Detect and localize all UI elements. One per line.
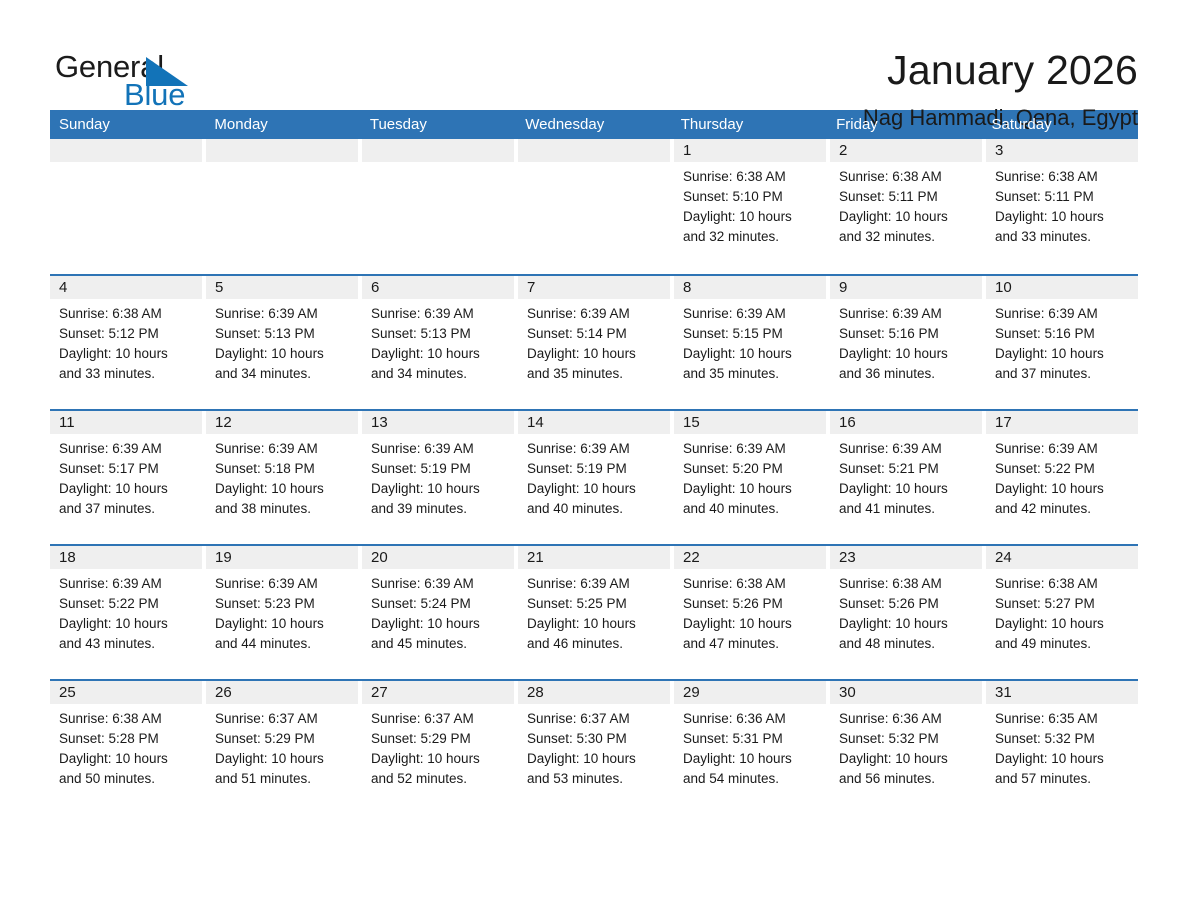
daylight-text-line1: Daylight: 10 hours <box>215 614 349 634</box>
day-sun-info: Sunrise: 6:39 AMSunset: 5:22 PMDaylight:… <box>50 569 202 654</box>
daylight-text-line1: Daylight: 10 hours <box>995 614 1129 634</box>
sunset-text: Sunset: 5:16 PM <box>839 324 973 344</box>
day-number: 23 <box>830 546 982 569</box>
sunset-text: Sunset: 5:24 PM <box>371 594 505 614</box>
day-sun-info: Sunrise: 6:39 AMSunset: 5:13 PMDaylight:… <box>206 299 358 384</box>
general-blue-logo: General Blue <box>50 46 200 120</box>
day-cell-empty <box>518 139 670 274</box>
sunset-text: Sunset: 5:22 PM <box>59 594 193 614</box>
day-sun-info: Sunrise: 6:39 AMSunset: 5:17 PMDaylight:… <box>50 434 202 519</box>
sunset-text: Sunset: 5:13 PM <box>371 324 505 344</box>
day-cell[interactable]: 29Sunrise: 6:36 AMSunset: 5:31 PMDayligh… <box>674 681 826 814</box>
sunrise-text: Sunrise: 6:39 AM <box>995 439 1129 459</box>
day-sun-info: Sunrise: 6:38 AMSunset: 5:28 PMDaylight:… <box>50 704 202 789</box>
daylight-text-line2: and 38 minutes. <box>215 499 349 519</box>
sunset-text: Sunset: 5:25 PM <box>527 594 661 614</box>
sunrise-text: Sunrise: 6:38 AM <box>59 709 193 729</box>
day-number: 28 <box>518 681 670 704</box>
sunrise-text: Sunrise: 6:39 AM <box>839 439 973 459</box>
day-number: 17 <box>986 411 1138 434</box>
day-cell[interactable]: 7Sunrise: 6:39 AMSunset: 5:14 PMDaylight… <box>518 276 670 409</box>
sunrise-text: Sunrise: 6:39 AM <box>839 304 973 324</box>
daylight-text-line2: and 34 minutes. <box>371 364 505 384</box>
day-cell[interactable]: 27Sunrise: 6:37 AMSunset: 5:29 PMDayligh… <box>362 681 514 814</box>
sunset-text: Sunset: 5:23 PM <box>215 594 349 614</box>
sunset-text: Sunset: 5:26 PM <box>839 594 973 614</box>
day-sun-info: Sunrise: 6:36 AMSunset: 5:31 PMDaylight:… <box>674 704 826 789</box>
daylight-text-line1: Daylight: 10 hours <box>683 749 817 769</box>
daylight-text-line1: Daylight: 10 hours <box>215 479 349 499</box>
day-cell[interactable]: 31Sunrise: 6:35 AMSunset: 5:32 PMDayligh… <box>986 681 1138 814</box>
day-number: 16 <box>830 411 982 434</box>
daylight-text-line2: and 53 minutes. <box>527 769 661 789</box>
sunset-text: Sunset: 5:27 PM <box>995 594 1129 614</box>
daylight-text-line1: Daylight: 10 hours <box>995 344 1129 364</box>
sunset-text: Sunset: 5:17 PM <box>59 459 193 479</box>
day-sun-info: Sunrise: 6:35 AMSunset: 5:32 PMDaylight:… <box>986 704 1138 789</box>
daylight-text-line1: Daylight: 10 hours <box>59 749 193 769</box>
day-number: 22 <box>674 546 826 569</box>
daylight-text-line1: Daylight: 10 hours <box>995 207 1129 227</box>
day-cell[interactable]: 2Sunrise: 6:38 AMSunset: 5:11 PMDaylight… <box>830 139 982 274</box>
day-cell[interactable]: 21Sunrise: 6:39 AMSunset: 5:25 PMDayligh… <box>518 546 670 679</box>
day-sun-info: Sunrise: 6:39 AMSunset: 5:15 PMDaylight:… <box>674 299 826 384</box>
day-sun-info: Sunrise: 6:37 AMSunset: 5:29 PMDaylight:… <box>362 704 514 789</box>
day-sun-info: Sunrise: 6:39 AMSunset: 5:16 PMDaylight:… <box>830 299 982 384</box>
sunset-text: Sunset: 5:26 PM <box>683 594 817 614</box>
weekday-header-saturday: Saturday <box>983 110 1138 139</box>
daylight-text-line2: and 47 minutes. <box>683 634 817 654</box>
day-sun-info: Sunrise: 6:39 AMSunset: 5:14 PMDaylight:… <box>518 299 670 384</box>
daylight-text-line2: and 56 minutes. <box>839 769 973 789</box>
day-sun-info: Sunrise: 6:37 AMSunset: 5:29 PMDaylight:… <box>206 704 358 789</box>
day-sun-info: Sunrise: 6:39 AMSunset: 5:21 PMDaylight:… <box>830 434 982 519</box>
day-cell[interactable]: 23Sunrise: 6:38 AMSunset: 5:26 PMDayligh… <box>830 546 982 679</box>
logo-text-blue: Blue <box>124 78 185 112</box>
daylight-text-line2: and 35 minutes. <box>527 364 661 384</box>
day-cell-empty <box>50 139 202 274</box>
day-number <box>50 139 202 162</box>
day-cell[interactable]: 9Sunrise: 6:39 AMSunset: 5:16 PMDaylight… <box>830 276 982 409</box>
daylight-text-line2: and 52 minutes. <box>371 769 505 789</box>
sunset-text: Sunset: 5:13 PM <box>215 324 349 344</box>
daylight-text-line2: and 32 minutes. <box>683 227 817 247</box>
daylight-text-line1: Daylight: 10 hours <box>527 344 661 364</box>
day-sun-info: Sunrise: 6:38 AMSunset: 5:26 PMDaylight:… <box>674 569 826 654</box>
daylight-text-line1: Daylight: 10 hours <box>59 479 193 499</box>
daylight-text-line1: Daylight: 10 hours <box>839 479 973 499</box>
daylight-text-line2: and 46 minutes. <box>527 634 661 654</box>
day-sun-info: Sunrise: 6:38 AMSunset: 5:12 PMDaylight:… <box>50 299 202 384</box>
day-sun-info: Sunrise: 6:39 AMSunset: 5:22 PMDaylight:… <box>986 434 1138 519</box>
day-number <box>206 139 358 162</box>
daylight-text-line2: and 33 minutes. <box>995 227 1129 247</box>
day-number: 3 <box>986 139 1138 162</box>
daylight-text-line2: and 43 minutes. <box>59 634 193 654</box>
sunrise-text: Sunrise: 6:38 AM <box>839 167 973 187</box>
day-cell[interactable]: 10Sunrise: 6:39 AMSunset: 5:16 PMDayligh… <box>986 276 1138 409</box>
day-number: 25 <box>50 681 202 704</box>
day-number: 21 <box>518 546 670 569</box>
day-sun-info: Sunrise: 6:39 AMSunset: 5:20 PMDaylight:… <box>674 434 826 519</box>
day-number: 12 <box>206 411 358 434</box>
month-calendar: Sunday Monday Tuesday Wednesday Thursday… <box>50 110 1138 814</box>
day-sun-info: Sunrise: 6:39 AMSunset: 5:25 PMDaylight:… <box>518 569 670 654</box>
daylight-text-line1: Daylight: 10 hours <box>527 479 661 499</box>
day-cell-empty <box>206 139 358 274</box>
day-sun-info: Sunrise: 6:39 AMSunset: 5:19 PMDaylight:… <box>518 434 670 519</box>
calendar-page: General Blue January 2026 Nag Hammadi, Q… <box>0 0 1188 918</box>
day-cell[interactable]: 22Sunrise: 6:38 AMSunset: 5:26 PMDayligh… <box>674 546 826 679</box>
day-cell[interactable]: 1Sunrise: 6:38 AMSunset: 5:10 PMDaylight… <box>674 139 826 274</box>
daylight-text-line2: and 37 minutes. <box>995 364 1129 384</box>
day-number: 6 <box>362 276 514 299</box>
sunrise-text: Sunrise: 6:39 AM <box>683 304 817 324</box>
day-cell[interactable]: 28Sunrise: 6:37 AMSunset: 5:30 PMDayligh… <box>518 681 670 814</box>
daylight-text-line2: and 37 minutes. <box>59 499 193 519</box>
day-sun-info: Sunrise: 6:39 AMSunset: 5:16 PMDaylight:… <box>986 299 1138 384</box>
day-number: 31 <box>986 681 1138 704</box>
sunrise-text: Sunrise: 6:37 AM <box>215 709 349 729</box>
day-cell[interactable]: 15Sunrise: 6:39 AMSunset: 5:20 PMDayligh… <box>674 411 826 544</box>
daylight-text-line2: and 54 minutes. <box>683 769 817 789</box>
day-number: 29 <box>674 681 826 704</box>
daylight-text-line1: Daylight: 10 hours <box>683 479 817 499</box>
daylight-text-line1: Daylight: 10 hours <box>839 344 973 364</box>
sunrise-text: Sunrise: 6:39 AM <box>215 439 349 459</box>
day-number: 14 <box>518 411 670 434</box>
day-sun-info: Sunrise: 6:38 AMSunset: 5:11 PMDaylight:… <box>830 162 982 247</box>
week-row: 11Sunrise: 6:39 AMSunset: 5:17 PMDayligh… <box>50 409 1138 544</box>
sunrise-text: Sunrise: 6:37 AM <box>527 709 661 729</box>
sunrise-text: Sunrise: 6:39 AM <box>683 439 817 459</box>
sunrise-text: Sunrise: 6:39 AM <box>371 304 505 324</box>
day-number: 2 <box>830 139 982 162</box>
daylight-text-line2: and 50 minutes. <box>59 769 193 789</box>
calendar-body: 1Sunrise: 6:38 AMSunset: 5:10 PMDaylight… <box>50 139 1138 814</box>
day-sun-info: Sunrise: 6:39 AMSunset: 5:23 PMDaylight:… <box>206 569 358 654</box>
day-cell[interactable]: 30Sunrise: 6:36 AMSunset: 5:32 PMDayligh… <box>830 681 982 814</box>
daylight-text-line2: and 40 minutes. <box>527 499 661 519</box>
sunset-text: Sunset: 5:18 PM <box>215 459 349 479</box>
daylight-text-line1: Daylight: 10 hours <box>371 749 505 769</box>
day-sun-info: Sunrise: 6:39 AMSunset: 5:19 PMDaylight:… <box>362 434 514 519</box>
day-cell[interactable]: 6Sunrise: 6:39 AMSunset: 5:13 PMDaylight… <box>362 276 514 409</box>
week-row: 18Sunrise: 6:39 AMSunset: 5:22 PMDayligh… <box>50 544 1138 679</box>
daylight-text-line1: Daylight: 10 hours <box>371 344 505 364</box>
sunset-text: Sunset: 5:19 PM <box>527 459 661 479</box>
sunrise-text: Sunrise: 6:39 AM <box>527 574 661 594</box>
sunrise-text: Sunrise: 6:38 AM <box>683 574 817 594</box>
daylight-text-line2: and 35 minutes. <box>683 364 817 384</box>
daylight-text-line1: Daylight: 10 hours <box>527 614 661 634</box>
daylight-text-line2: and 32 minutes. <box>839 227 973 247</box>
daylight-text-line2: and 39 minutes. <box>371 499 505 519</box>
weekday-header-thursday: Thursday <box>672 110 827 139</box>
day-number: 19 <box>206 546 358 569</box>
day-number: 30 <box>830 681 982 704</box>
day-cell[interactable]: 12Sunrise: 6:39 AMSunset: 5:18 PMDayligh… <box>206 411 358 544</box>
sunset-text: Sunset: 5:31 PM <box>683 729 817 749</box>
day-cell[interactable]: 18Sunrise: 6:39 AMSunset: 5:22 PMDayligh… <box>50 546 202 679</box>
daylight-text-line1: Daylight: 10 hours <box>683 344 817 364</box>
day-cell-empty <box>362 139 514 274</box>
week-row: 25Sunrise: 6:38 AMSunset: 5:28 PMDayligh… <box>50 679 1138 814</box>
daylight-text-line1: Daylight: 10 hours <box>371 479 505 499</box>
daylight-text-line2: and 51 minutes. <box>215 769 349 789</box>
sunrise-text: Sunrise: 6:38 AM <box>839 574 973 594</box>
sunset-text: Sunset: 5:32 PM <box>995 729 1129 749</box>
day-number: 5 <box>206 276 358 299</box>
sunrise-text: Sunrise: 6:38 AM <box>995 574 1129 594</box>
day-number: 13 <box>362 411 514 434</box>
daylight-text-line1: Daylight: 10 hours <box>215 749 349 769</box>
sunset-text: Sunset: 5:29 PM <box>371 729 505 749</box>
day-number: 15 <box>674 411 826 434</box>
day-sun-info: Sunrise: 6:39 AMSunset: 5:24 PMDaylight:… <box>362 569 514 654</box>
daylight-text-line2: and 33 minutes. <box>59 364 193 384</box>
weekday-header-wednesday: Wednesday <box>516 110 671 139</box>
sunrise-text: Sunrise: 6:39 AM <box>59 439 193 459</box>
day-cell[interactable]: 25Sunrise: 6:38 AMSunset: 5:28 PMDayligh… <box>50 681 202 814</box>
sunrise-text: Sunrise: 6:39 AM <box>215 574 349 594</box>
sunrise-text: Sunrise: 6:38 AM <box>59 304 193 324</box>
sunrise-text: Sunrise: 6:36 AM <box>683 709 817 729</box>
sunrise-text: Sunrise: 6:38 AM <box>995 167 1129 187</box>
weekday-header-row: Sunday Monday Tuesday Wednesday Thursday… <box>50 110 1138 139</box>
daylight-text-line1: Daylight: 10 hours <box>683 207 817 227</box>
daylight-text-line2: and 45 minutes. <box>371 634 505 654</box>
day-number: 1 <box>674 139 826 162</box>
day-cell[interactable]: 26Sunrise: 6:37 AMSunset: 5:29 PMDayligh… <box>206 681 358 814</box>
day-sun-info: Sunrise: 6:36 AMSunset: 5:32 PMDaylight:… <box>830 704 982 789</box>
day-sun-info: Sunrise: 6:38 AMSunset: 5:27 PMDaylight:… <box>986 569 1138 654</box>
day-number: 20 <box>362 546 514 569</box>
daylight-text-line1: Daylight: 10 hours <box>839 207 973 227</box>
daylight-text-line1: Daylight: 10 hours <box>59 344 193 364</box>
sunset-text: Sunset: 5:21 PM <box>839 459 973 479</box>
day-number: 27 <box>362 681 514 704</box>
daylight-text-line1: Daylight: 10 hours <box>215 344 349 364</box>
sunset-text: Sunset: 5:11 PM <box>995 187 1129 207</box>
day-cell[interactable]: 17Sunrise: 6:39 AMSunset: 5:22 PMDayligh… <box>986 411 1138 544</box>
day-number: 7 <box>518 276 670 299</box>
daylight-text-line1: Daylight: 10 hours <box>371 614 505 634</box>
daylight-text-line2: and 57 minutes. <box>995 769 1129 789</box>
day-cell[interactable]: 4Sunrise: 6:38 AMSunset: 5:12 PMDaylight… <box>50 276 202 409</box>
sunset-text: Sunset: 5:30 PM <box>527 729 661 749</box>
sunrise-text: Sunrise: 6:35 AM <box>995 709 1129 729</box>
daylight-text-line1: Daylight: 10 hours <box>839 614 973 634</box>
page-title: January 2026 <box>863 46 1138 94</box>
sunrise-text: Sunrise: 6:39 AM <box>527 439 661 459</box>
daylight-text-line1: Daylight: 10 hours <box>839 749 973 769</box>
day-cell[interactable]: 19Sunrise: 6:39 AMSunset: 5:23 PMDayligh… <box>206 546 358 679</box>
sunset-text: Sunset: 5:10 PM <box>683 187 817 207</box>
day-sun-info: Sunrise: 6:38 AMSunset: 5:26 PMDaylight:… <box>830 569 982 654</box>
day-number: 26 <box>206 681 358 704</box>
day-number: 24 <box>986 546 1138 569</box>
daylight-text-line1: Daylight: 10 hours <box>683 614 817 634</box>
day-cell[interactable]: 14Sunrise: 6:39 AMSunset: 5:19 PMDayligh… <box>518 411 670 544</box>
daylight-text-line2: and 40 minutes. <box>683 499 817 519</box>
weekday-header-friday: Friday <box>827 110 982 139</box>
day-cell[interactable]: 11Sunrise: 6:39 AMSunset: 5:17 PMDayligh… <box>50 411 202 544</box>
daylight-text-line2: and 44 minutes. <box>215 634 349 654</box>
daylight-text-line1: Daylight: 10 hours <box>995 479 1129 499</box>
sunrise-text: Sunrise: 6:39 AM <box>215 304 349 324</box>
sunrise-text: Sunrise: 6:39 AM <box>995 304 1129 324</box>
week-row: 4Sunrise: 6:38 AMSunset: 5:12 PMDaylight… <box>50 274 1138 409</box>
sunrise-text: Sunrise: 6:39 AM <box>371 439 505 459</box>
daylight-text-line2: and 36 minutes. <box>839 364 973 384</box>
sunrise-text: Sunrise: 6:37 AM <box>371 709 505 729</box>
day-cell[interactable]: 3Sunrise: 6:38 AMSunset: 5:11 PMDaylight… <box>986 139 1138 274</box>
page-header: General Blue January 2026 Nag Hammadi, Q… <box>50 0 1138 110</box>
day-number <box>362 139 514 162</box>
sunset-text: Sunset: 5:28 PM <box>59 729 193 749</box>
daylight-text-line1: Daylight: 10 hours <box>995 749 1129 769</box>
sunrise-text: Sunrise: 6:38 AM <box>683 167 817 187</box>
day-cell[interactable]: 8Sunrise: 6:39 AMSunset: 5:15 PMDaylight… <box>674 276 826 409</box>
day-cell[interactable]: 16Sunrise: 6:39 AMSunset: 5:21 PMDayligh… <box>830 411 982 544</box>
sunset-text: Sunset: 5:22 PM <box>995 459 1129 479</box>
day-cell[interactable]: 20Sunrise: 6:39 AMSunset: 5:24 PMDayligh… <box>362 546 514 679</box>
day-number: 11 <box>50 411 202 434</box>
sunset-text: Sunset: 5:16 PM <box>995 324 1129 344</box>
sunset-text: Sunset: 5:15 PM <box>683 324 817 344</box>
day-number: 9 <box>830 276 982 299</box>
daylight-text-line2: and 49 minutes. <box>995 634 1129 654</box>
day-sun-info: Sunrise: 6:37 AMSunset: 5:30 PMDaylight:… <box>518 704 670 789</box>
daylight-text-line2: and 34 minutes. <box>215 364 349 384</box>
daylight-text-line2: and 41 minutes. <box>839 499 973 519</box>
day-cell[interactable]: 24Sunrise: 6:38 AMSunset: 5:27 PMDayligh… <box>986 546 1138 679</box>
day-sun-info: Sunrise: 6:38 AMSunset: 5:11 PMDaylight:… <box>986 162 1138 247</box>
sunrise-text: Sunrise: 6:39 AM <box>59 574 193 594</box>
sunset-text: Sunset: 5:19 PM <box>371 459 505 479</box>
weekday-header-monday: Monday <box>205 110 360 139</box>
day-sun-info: Sunrise: 6:38 AMSunset: 5:10 PMDaylight:… <box>674 162 826 247</box>
day-number: 10 <box>986 276 1138 299</box>
day-cell[interactable]: 13Sunrise: 6:39 AMSunset: 5:19 PMDayligh… <box>362 411 514 544</box>
day-cell[interactable]: 5Sunrise: 6:39 AMSunset: 5:13 PMDaylight… <box>206 276 358 409</box>
day-sun-info: Sunrise: 6:39 AMSunset: 5:13 PMDaylight:… <box>362 299 514 384</box>
day-number: 8 <box>674 276 826 299</box>
daylight-text-line2: and 48 minutes. <box>839 634 973 654</box>
weekday-header-tuesday: Tuesday <box>361 110 516 139</box>
day-sun-info: Sunrise: 6:39 AMSunset: 5:18 PMDaylight:… <box>206 434 358 519</box>
daylight-text-line1: Daylight: 10 hours <box>59 614 193 634</box>
day-number: 18 <box>50 546 202 569</box>
sunset-text: Sunset: 5:32 PM <box>839 729 973 749</box>
sunrise-text: Sunrise: 6:39 AM <box>527 304 661 324</box>
sunrise-text: Sunrise: 6:36 AM <box>839 709 973 729</box>
sunset-text: Sunset: 5:14 PM <box>527 324 661 344</box>
sunset-text: Sunset: 5:12 PM <box>59 324 193 344</box>
sunset-text: Sunset: 5:11 PM <box>839 187 973 207</box>
sunrise-text: Sunrise: 6:39 AM <box>371 574 505 594</box>
daylight-text-line2: and 42 minutes. <box>995 499 1129 519</box>
daylight-text-line1: Daylight: 10 hours <box>527 749 661 769</box>
day-number: 4 <box>50 276 202 299</box>
sunset-text: Sunset: 5:29 PM <box>215 729 349 749</box>
sunset-text: Sunset: 5:20 PM <box>683 459 817 479</box>
day-number <box>518 139 670 162</box>
week-row: 1Sunrise: 6:38 AMSunset: 5:10 PMDaylight… <box>50 139 1138 274</box>
